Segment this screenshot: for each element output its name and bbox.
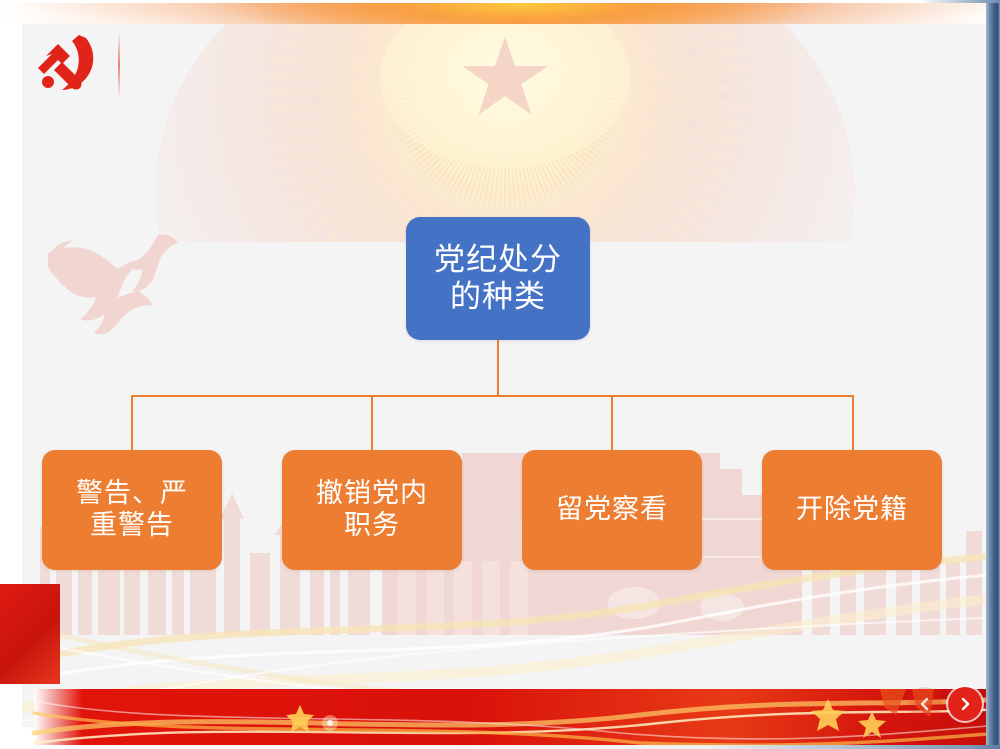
viewer-frame-bottom <box>0 745 1000 749</box>
leaf-node-4[interactable]: 开除党籍 <box>762 450 942 570</box>
root-node-line-1: 党纪处分 <box>434 242 562 279</box>
slide-canvas: 党纪处分 的种类 警告、严 重警告 撤销党内 职务 留党察看 <box>22 22 988 727</box>
root-node-line-2: 的种类 <box>434 279 562 316</box>
connector-stem <box>497 340 499 396</box>
leaf-node-1-text: 警告、严 重警告 <box>76 478 188 542</box>
leaf-node-2[interactable]: 撤销党内 职务 <box>282 450 462 570</box>
root-node-text: 党纪处分 的种类 <box>434 242 562 315</box>
leaf-node-1-line-1: 警告、严 <box>76 478 188 510</box>
next-slide-button[interactable] <box>948 687 982 721</box>
top-glow-decoration <box>0 0 1000 24</box>
leaf-node-1-line-2: 重警告 <box>76 510 188 542</box>
connector-drop-2 <box>371 395 373 451</box>
connector-drop-4 <box>852 395 854 451</box>
slide-navigation <box>908 687 982 721</box>
leaf-node-2-line-2: 职务 <box>316 510 428 542</box>
leaf-node-4-text: 开除党籍 <box>796 494 908 526</box>
leaf-node-1[interactable]: 警告、严 重警告 <box>42 450 222 570</box>
connector-drop-1 <box>131 395 133 451</box>
leaf-node-4-line-1: 开除党籍 <box>796 494 908 526</box>
root-node[interactable]: 党纪处分 的种类 <box>406 217 590 340</box>
connector-bus <box>131 395 854 397</box>
connector-drop-3 <box>611 395 613 451</box>
leaf-node-2-line-1: 撤销党内 <box>316 478 428 510</box>
chevron-left-icon <box>918 697 932 711</box>
leaf-node-2-text: 撤销党内 职务 <box>316 478 428 542</box>
viewer-frame-top <box>0 0 1000 3</box>
org-chart: 党纪处分 的种类 警告、严 重警告 撤销党内 职务 留党察看 <box>22 22 988 727</box>
prev-slide-button[interactable] <box>908 687 942 721</box>
presentation-viewer: 党纪处分 的种类 警告、严 重警告 撤销党内 职务 留党察看 <box>0 0 1000 749</box>
leaf-node-3[interactable]: 留党察看 <box>522 450 702 570</box>
chevron-right-icon <box>958 697 972 711</box>
viewer-frame-right <box>986 0 1000 749</box>
leaf-node-3-line-1: 留党察看 <box>556 494 668 526</box>
leaf-node-3-text: 留党察看 <box>556 494 668 526</box>
